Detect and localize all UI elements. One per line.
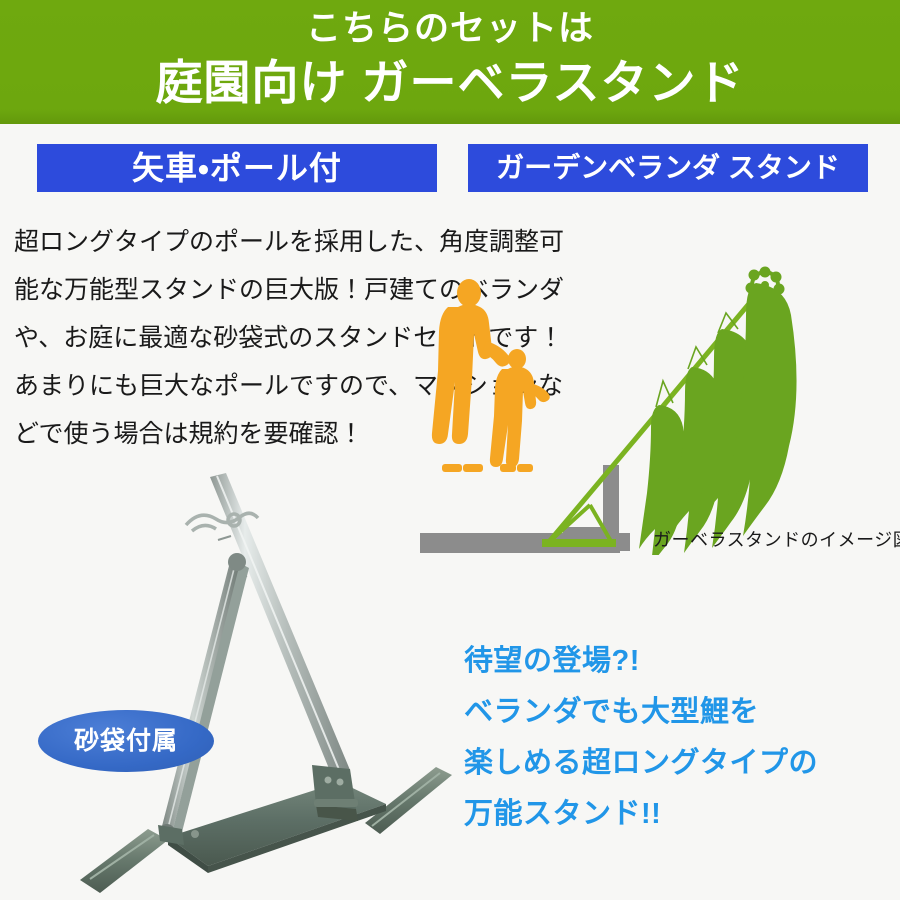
promo-line: 楽しめる超ロングタイプの xyxy=(464,738,894,789)
koinobori-streamers-icon xyxy=(639,283,797,555)
page-title: 庭園向け ガーベラスタンド xyxy=(0,54,900,112)
product-photo xyxy=(20,455,470,900)
stand-usage-illustration xyxy=(420,255,900,555)
feature-label-stand-text: ガーデンベランダ スタンド xyxy=(468,144,868,192)
promo-line: 万能スタンド!! xyxy=(464,789,894,840)
promo-line: ベランダでも大型鯉を xyxy=(464,687,894,738)
promo-line: 待望の登場?! xyxy=(464,636,894,687)
status-badge-text: 砂袋付属 xyxy=(38,710,214,772)
support-strut-icon xyxy=(159,553,249,840)
feature-label-stand: ガーデンベランダ スタンド xyxy=(468,144,868,192)
header-subtitle: こちらのセットは xyxy=(0,7,900,51)
child-figure-icon xyxy=(490,349,550,472)
promo-message: 待望の登場?! ベランダでも大型鯉を 楽しめる超ロングタイプの 万能スタンド!! xyxy=(464,636,894,840)
product-infographic-page: こちらのセットは 庭園向け ガーベラスタンド 矢車・ポール付 ガーデンベランダ … xyxy=(0,0,900,900)
page-header-banner: こちらのセットは 庭園向け ガーベラスタンド xyxy=(0,0,900,124)
feature-label-pole-text: 矢車・ポール付 xyxy=(37,144,437,192)
pole-foot-bracket-icon xyxy=(312,765,358,821)
illustration-caption: ガーベラスタンドのイメージ図 xyxy=(653,526,900,552)
status-badge-sandbag: 砂袋付属 xyxy=(38,710,214,772)
feature-label-pole: 矢車・ポール付 xyxy=(37,144,437,192)
